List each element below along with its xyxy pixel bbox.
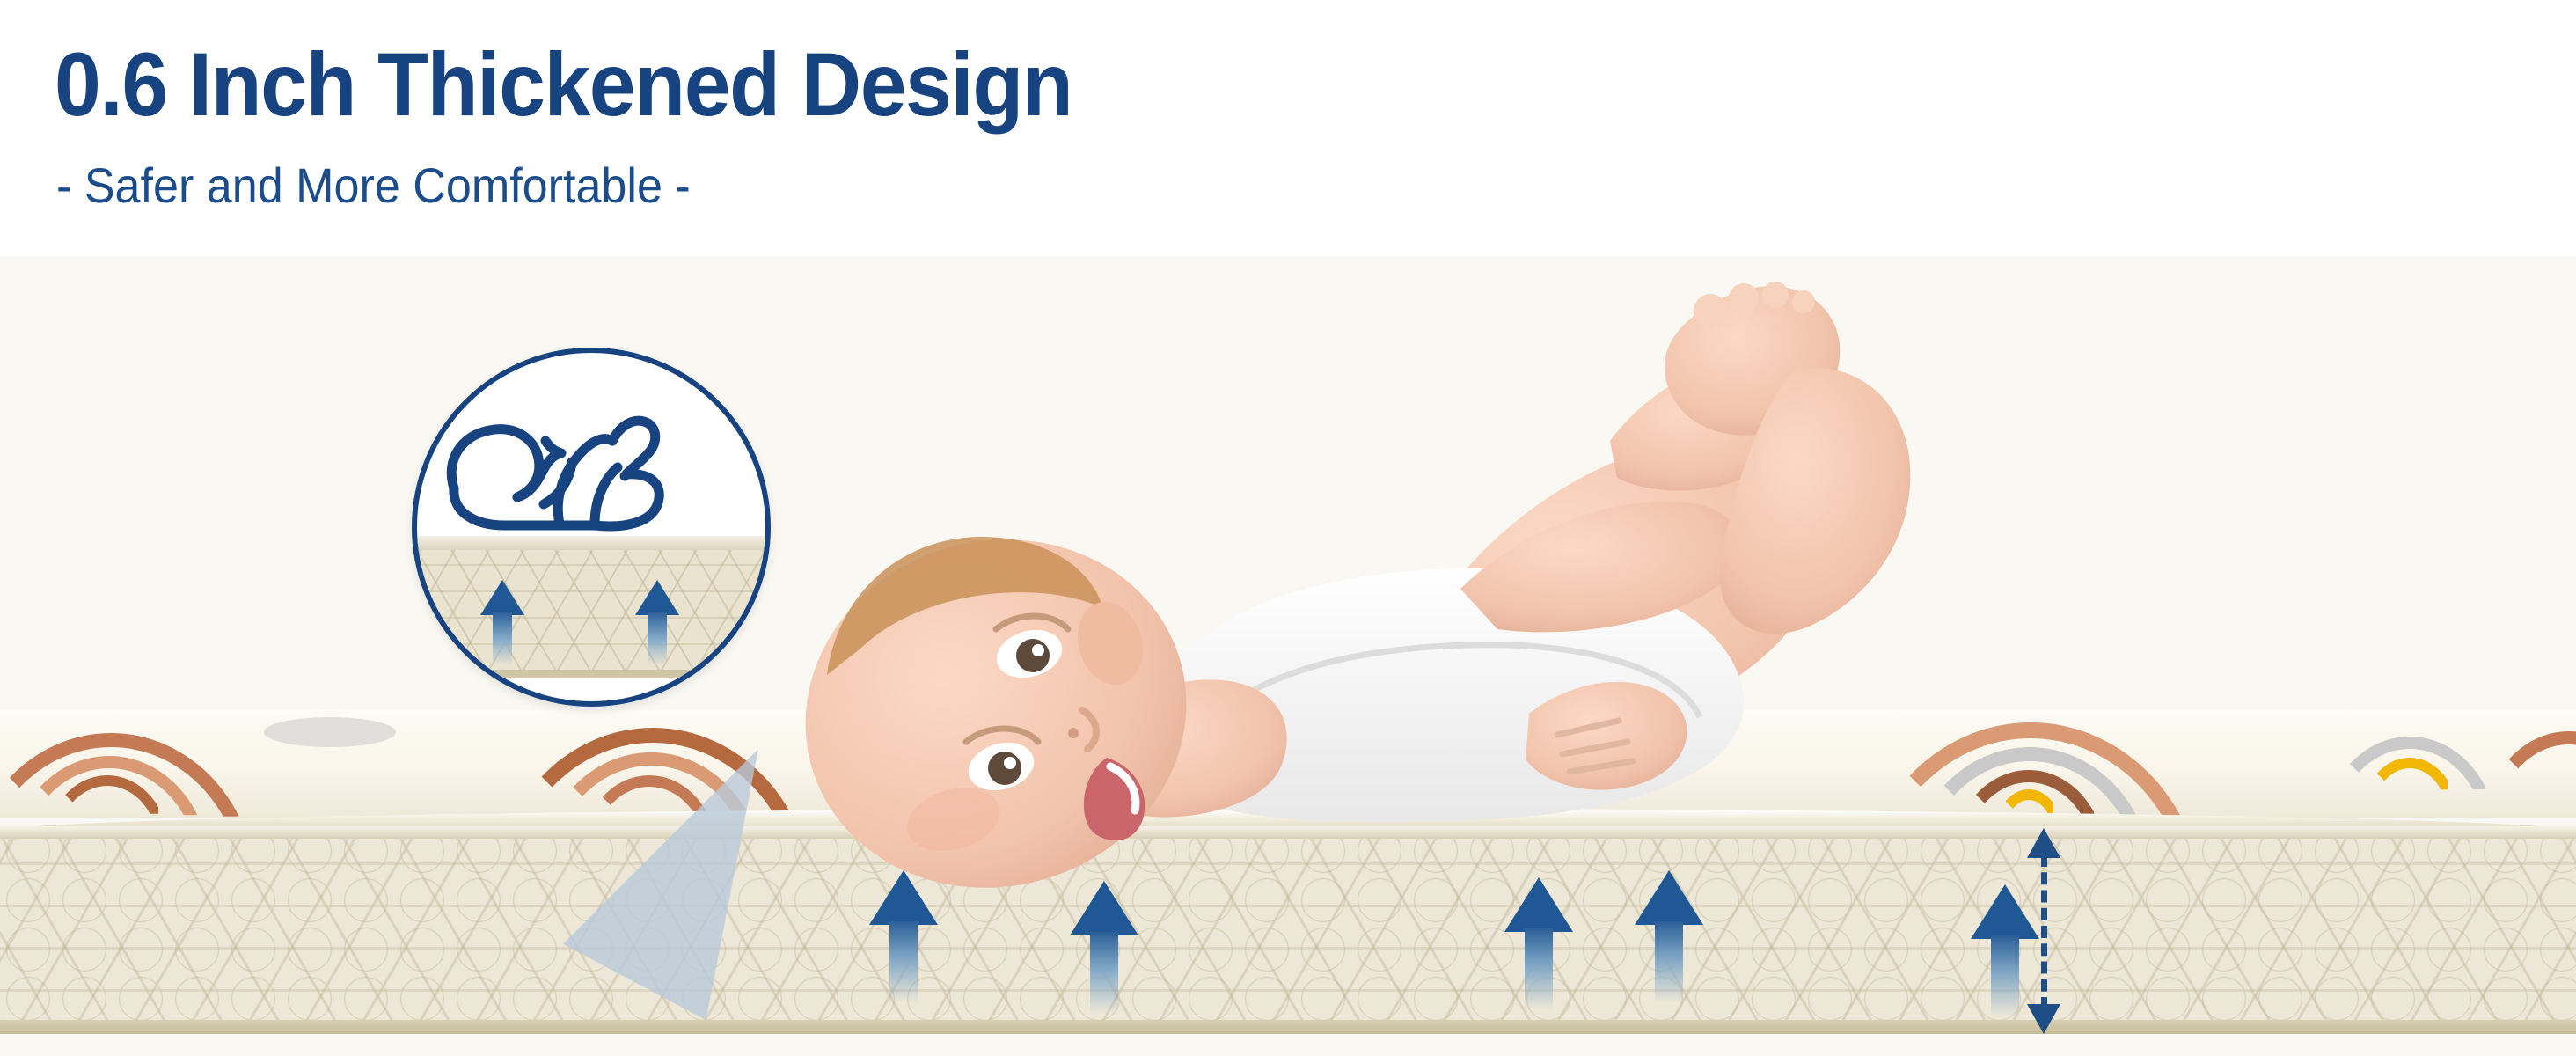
inset-baby-line-icon — [431, 392, 751, 559]
page-subtitle: - Safer and More Comfortable - — [56, 160, 691, 211]
page-title: 0.6 Inch Thickened Design — [55, 39, 1072, 130]
inset-support-arrow-icon — [480, 580, 524, 664]
inset-support-arrow-icon — [635, 580, 679, 664]
header-band: 0.6 Inch Thickened Design - Safer and Mo… — [0, 0, 2576, 256]
baby-photo — [765, 256, 2138, 1039]
inset-foam-texture — [417, 550, 765, 671]
product-scene: 0.6in — [0, 256, 2576, 1056]
marketing-banner: 0.6 Inch Thickened Design - Safer and Mo… — [0, 0, 2576, 1056]
inset-illustration — [412, 348, 771, 707]
mat-rainbow-arc — [2481, 731, 2576, 835]
mat-cloud-motif — [264, 717, 396, 747]
inset-foam-base — [417, 670, 765, 678]
